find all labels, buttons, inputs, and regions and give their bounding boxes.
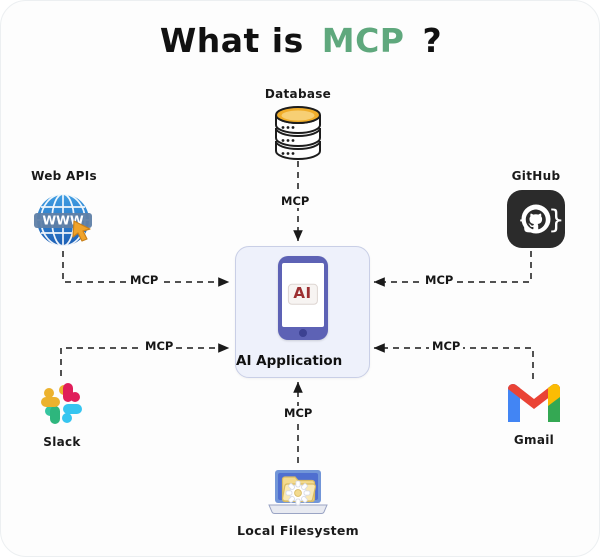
node-slack[interactable]: Slack <box>12 375 112 449</box>
link-label-database: MCP <box>278 194 312 208</box>
node-label-ai-application: AI Application <box>236 353 369 369</box>
node-web-apis[interactable]: Web APIs WWW <box>14 169 114 252</box>
node-label-database: Database <box>248 87 348 101</box>
node-database[interactable]: Database <box>248 87 348 167</box>
link-label-local-filesystem: MCP <box>281 406 315 420</box>
database-cylinder-icon <box>271 105 325 167</box>
github-icon: { } <box>506 189 566 249</box>
laptop-folder-gear-icon <box>265 465 331 517</box>
link-label-gmail: MCP <box>429 339 463 353</box>
phone-home-button <box>299 329 307 337</box>
node-label-gmail: Gmail <box>484 433 584 447</box>
slack-icon <box>34 375 90 431</box>
phone-screen: AI <box>282 263 324 327</box>
node-label-web-apis: Web APIs <box>14 169 114 183</box>
diagram-canvas: What is MCP ? MCP MCP MCP MCP MCP MC <box>0 0 600 557</box>
node-label-github: GitHub <box>486 169 586 183</box>
node-github[interactable]: GitHub { } <box>486 169 586 249</box>
link-label-slack: MCP <box>142 339 176 353</box>
smartphone-icon: AI <box>278 256 328 340</box>
gmail-icon <box>505 379 563 425</box>
node-ai-application[interactable]: AI AI Application <box>235 246 370 378</box>
node-label-slack: Slack <box>12 435 112 449</box>
link-label-web-apis: MCP <box>127 273 161 287</box>
node-gmail[interactable]: Gmail <box>484 379 584 447</box>
link-label-github: MCP <box>422 273 456 287</box>
node-label-local-filesystem: Local Filesystem <box>233 523 363 538</box>
globe-www-icon: WWW <box>32 188 96 252</box>
node-local-filesystem[interactable]: Local Filesystem <box>233 465 363 538</box>
svg-text:}: } <box>548 205 565 235</box>
ai-label: AI <box>287 284 317 305</box>
